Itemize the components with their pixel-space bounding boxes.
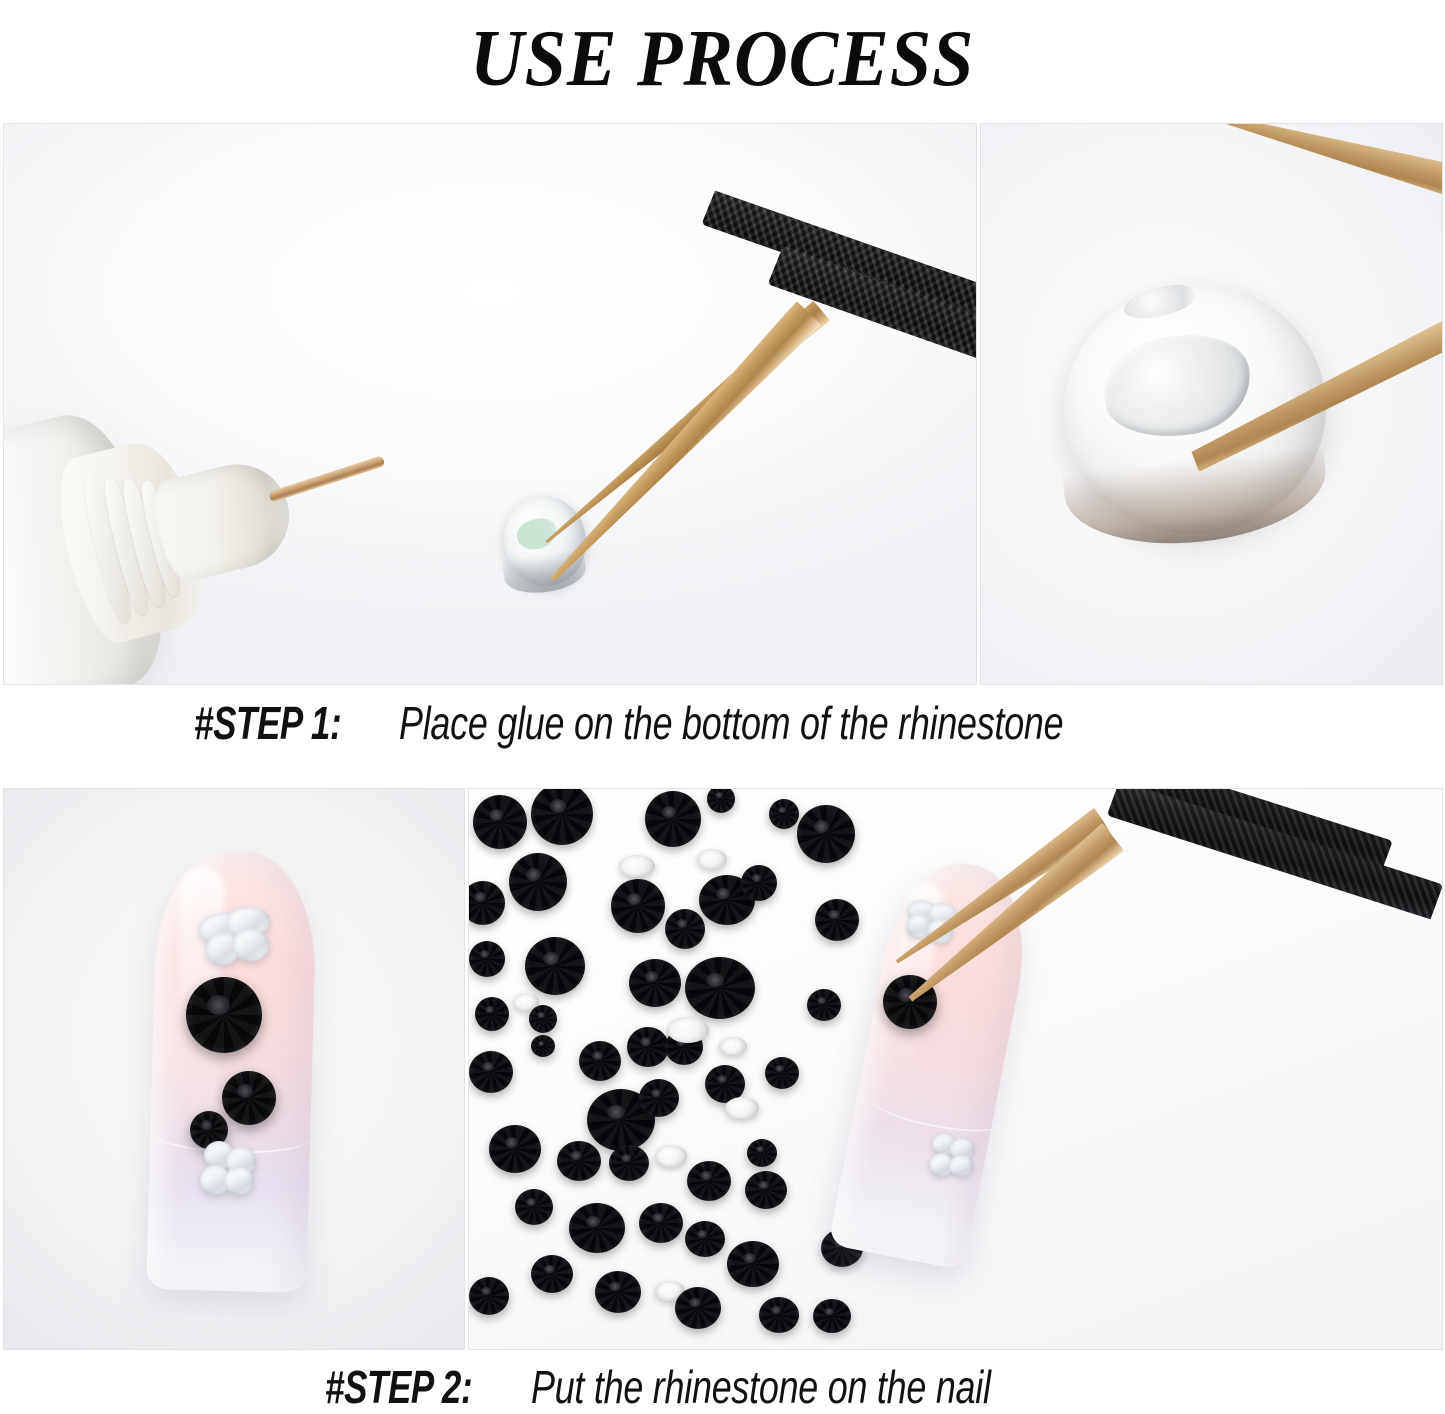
scattered-rhinestone xyxy=(529,1005,557,1033)
scattered-rhinestone xyxy=(475,997,509,1031)
scattered-rhinestone xyxy=(531,1255,573,1293)
scattered-rhinestone xyxy=(815,899,859,941)
panel-finished-nail xyxy=(3,788,465,1350)
scattered-rhinestone xyxy=(509,853,567,911)
scattered-rhinestone-silver-back xyxy=(725,1097,759,1119)
scattered-rhinestone xyxy=(639,1079,679,1117)
scattered-rhinestone xyxy=(489,1125,541,1173)
scattered-rhinestone-silver-back xyxy=(667,1017,709,1043)
scattered-rhinestone-silver-back xyxy=(719,1037,747,1055)
scattered-rhinestone xyxy=(469,941,505,977)
scattered-rhinestone xyxy=(727,1241,779,1287)
step-2-label: #STEP 2: xyxy=(325,1360,472,1414)
scattered-rhinestone xyxy=(687,1161,731,1201)
black-rhinestone-medium xyxy=(222,1071,276,1125)
scattered-rhinestone xyxy=(769,799,799,829)
clear-flower-rhinestone xyxy=(200,1141,256,1197)
scattered-rhinestone xyxy=(469,1277,509,1315)
panel-glue-application xyxy=(3,123,977,685)
scattered-rhinestone xyxy=(797,805,855,863)
scattered-rhinestone-silver-back xyxy=(619,855,655,877)
page-title: USE PROCESS xyxy=(470,19,974,99)
scattered-rhinestone xyxy=(745,1171,787,1209)
scattered-rhinestone xyxy=(525,937,585,995)
scattered-rhinestone xyxy=(675,1287,721,1329)
step-2-image-row xyxy=(3,788,1443,1350)
step-1-image-row xyxy=(3,123,1443,685)
scattered-rhinestone xyxy=(759,1297,799,1333)
scattered-rhinestone-silver-back xyxy=(655,1145,687,1167)
scattered-rhinestone xyxy=(569,1203,625,1253)
scattered-rhinestone xyxy=(645,791,701,847)
clear-butterfly-rhinestone xyxy=(196,904,275,971)
scattered-rhinestone xyxy=(685,957,755,1019)
scattered-rhinestone xyxy=(515,1189,553,1225)
scattered-rhinestone xyxy=(747,1139,777,1167)
black-rhinestone-large xyxy=(186,977,262,1053)
scattered-rhinestone xyxy=(741,865,777,901)
page-header: USE PROCESS xyxy=(0,0,1445,118)
scattered-rhinestone xyxy=(557,1141,601,1181)
scattered-rhinestone xyxy=(473,795,527,849)
flower-petal xyxy=(224,1167,254,1195)
step-2-caption: #STEP 2: Put the rhinestone on the nail xyxy=(0,1362,1445,1412)
scattered-rhinestone xyxy=(765,1057,799,1089)
scattered-rhinestone xyxy=(685,1221,725,1257)
scattered-rhinestone xyxy=(629,959,681,1007)
scattered-rhinestone xyxy=(639,1203,683,1243)
step-1-text: Place glue on the bottom of the rhinesto… xyxy=(399,696,1063,750)
scattered-rhinestone xyxy=(595,1271,641,1313)
scattered-rhinestone-silver-back xyxy=(697,849,727,869)
scattered-rhinestone xyxy=(609,1145,649,1181)
step-1-caption: #STEP 1: Place glue on the bottom of the… xyxy=(0,692,1445,754)
panel-rhinestone-scatter xyxy=(468,788,1443,1350)
scattered-rhinestone xyxy=(579,1041,621,1081)
scattered-rhinestone xyxy=(665,909,705,949)
scattered-rhinestone xyxy=(469,1051,513,1093)
scattered-rhinestone xyxy=(531,1035,555,1057)
butterfly-wing xyxy=(231,927,271,964)
scattered-rhinestone xyxy=(807,989,841,1021)
step-2-text: Put the rhinestone on the nail xyxy=(531,1360,991,1414)
panel-glue-closeup xyxy=(980,123,1443,685)
step-1-label: #STEP 1: xyxy=(194,696,341,750)
scattered-rhinestone xyxy=(611,879,665,933)
clear-flower-rhinestone xyxy=(929,1133,975,1179)
scattered-rhinestone xyxy=(813,1299,851,1333)
scattered-rhinestone xyxy=(627,1027,669,1067)
flower-petal xyxy=(949,1155,973,1177)
